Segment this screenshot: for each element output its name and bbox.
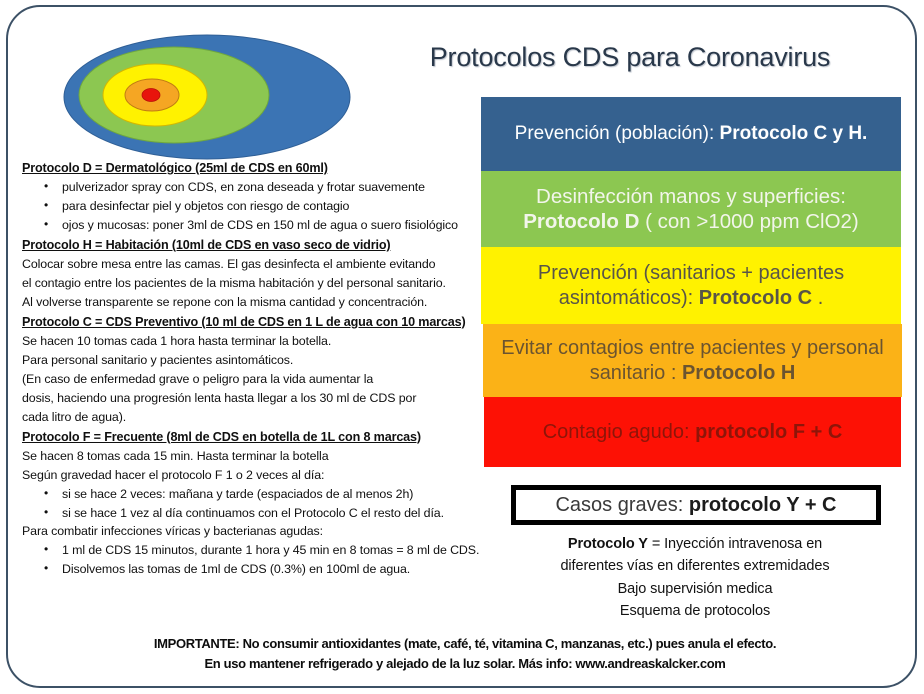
casos-graves-bold: protocolo Y + C (689, 494, 837, 516)
protocol-bands-list: Prevención (población): Protocolo C y H.… (481, 97, 901, 467)
note-line-2: diferentes vías en diferentes extremidad… (489, 555, 901, 577)
band-pre-text: Prevención (población): (515, 123, 720, 144)
line-protocolo-h-2: el contagio entre los pacientes de la mi… (22, 274, 488, 293)
band-bold-text: Protocolo C (699, 287, 812, 309)
poster-root: Protocolos CDS para Coronavirus Protocol… (0, 0, 924, 694)
casos-graves-pre: Casos graves: (555, 494, 688, 516)
footer-line-2: En uso mantener refrigerado y alejado de… (62, 654, 868, 674)
note-bold-1: Protocolo Y (568, 536, 648, 552)
band-evitar-contagios[interactable]: Evitar contagios entre pacientes y perso… (483, 324, 902, 397)
bullet-agudas-2: Disolvemos las tomas de 1ml de CDS (0.3%… (22, 560, 488, 579)
band-text: Prevención (sanitarios + pacientes asint… (495, 261, 887, 310)
heading-protocolo-h: Protocolo H = Habitación (10ml de CDS en… (22, 236, 488, 255)
band-bold-text: Protocolo H (682, 362, 795, 384)
footer-warning: IMPORTANTE: No consumir antioxidantes (m… (62, 634, 868, 674)
heading-protocolo-d: Protocolo D = Dermatológico (25ml de CDS… (22, 159, 488, 178)
band-text: Evitar contagios entre pacientes y perso… (497, 336, 888, 385)
band-pre-text: Contagio agudo: (543, 421, 695, 443)
band-text: Contagio agudo: protocolo F + C (543, 420, 843, 444)
band-text: Desinfección manos y superficies: Protoc… (491, 184, 891, 234)
line-protocolo-h-3: Al volverse transparente se repone con l… (22, 293, 488, 312)
page-title: Protocolos CDS para Coronavirus (355, 42, 905, 73)
band-prevencion-poblacion[interactable]: Prevención (población): Protocolo C y H. (481, 97, 901, 171)
band-contagio-agudo[interactable]: Contagio agudo: protocolo F + C (484, 397, 901, 467)
line-protocolo-f-2: Según gravedad hacer el protocolo F 1 o … (22, 466, 488, 485)
band-post-text: ( con >1000 ppm ClO2) (639, 210, 858, 233)
ellipses-svg (62, 32, 352, 162)
band-bold-text: Protocolo D (523, 210, 639, 233)
concentric-ellipses-diagram (62, 32, 352, 162)
footer-line-1: IMPORTANTE: No consumir antioxidantes (m… (62, 634, 868, 654)
band-desinfeccion-manos-superficies[interactable]: Desinfección manos y superficies: Protoc… (481, 171, 901, 247)
note-line-1: Protocolo Y = Inyección intravenosa en (489, 533, 901, 555)
ellipse-center-red (142, 89, 160, 102)
bullet-protocolo-d-2: para desinfectar piel y objetos con ries… (22, 197, 488, 216)
line-protocolo-h-1: Colocar sobre mesa entre las camas. El g… (22, 255, 488, 274)
band-text: Prevención (población): Protocolo C y H. (515, 122, 868, 145)
band-prevencion-sanitarios-asintomaticos[interactable]: Prevención (sanitarios + pacientes asint… (481, 247, 901, 324)
note-line-3: Bajo supervisión medica (489, 578, 901, 600)
line-protocolo-c-3: (En caso de enfermedad grave o peligro p… (22, 370, 488, 389)
line-protocolo-c-2: Para personal sanitario y pacientes asin… (22, 351, 488, 370)
heading-protocolo-f: Protocolo F = Frecuente (8ml de CDS en b… (22, 428, 488, 447)
bullet-agudas-1: 1 ml de CDS 15 minutos, durante 1 hora y… (22, 541, 488, 560)
line-protocolo-c-1: Se hacen 10 tomas cada 1 hora hasta term… (22, 332, 488, 351)
note-rest-1: = Inyección intravenosa en (648, 536, 822, 552)
bullet-protocolo-d-3: ojos y mucosas: poner 3ml de CDS en 150 … (22, 216, 488, 235)
protocolo-y-notes: Protocolo Y = Inyección intravenosa en d… (489, 533, 901, 623)
band-bold-text: protocolo F + C (695, 421, 842, 443)
band-post-text: . (812, 287, 823, 309)
heading-protocolo-c: Protocolo C = CDS Preventivo (10 ml de C… (22, 313, 488, 332)
left-text-column: Protocolo D = Dermatológico (25ml de CDS… (22, 158, 488, 579)
line-protocolo-c-5: cada litro de agua). (22, 408, 488, 427)
line-protocolo-f-1: Se hacen 8 tomas cada 15 min. Hasta term… (22, 447, 488, 466)
bullet-protocolo-d-1: pulverizador spray con CDS, en zona dese… (22, 178, 488, 197)
band-pre-text: Desinfección manos y superficies: (536, 185, 846, 208)
casos-graves-box[interactable]: Casos graves: protocolo Y + C (511, 485, 881, 525)
line-protocolo-c-4: dosis, haciendo una progresión lenta has… (22, 389, 488, 408)
bullet-protocolo-f-1: si se hace 2 veces: mañana y tarde (espa… (22, 485, 488, 504)
casos-graves-text: Casos graves: protocolo Y + C (555, 494, 836, 517)
note-line-4: Esquema de protocolos (489, 600, 901, 622)
band-bold-text: Protocolo C y H. (720, 123, 868, 144)
bullet-protocolo-f-2: si se hace 1 vez al día continuamos con … (22, 504, 488, 523)
line-infecciones-agudas: Para combatir infecciones víricas y bact… (22, 522, 488, 541)
